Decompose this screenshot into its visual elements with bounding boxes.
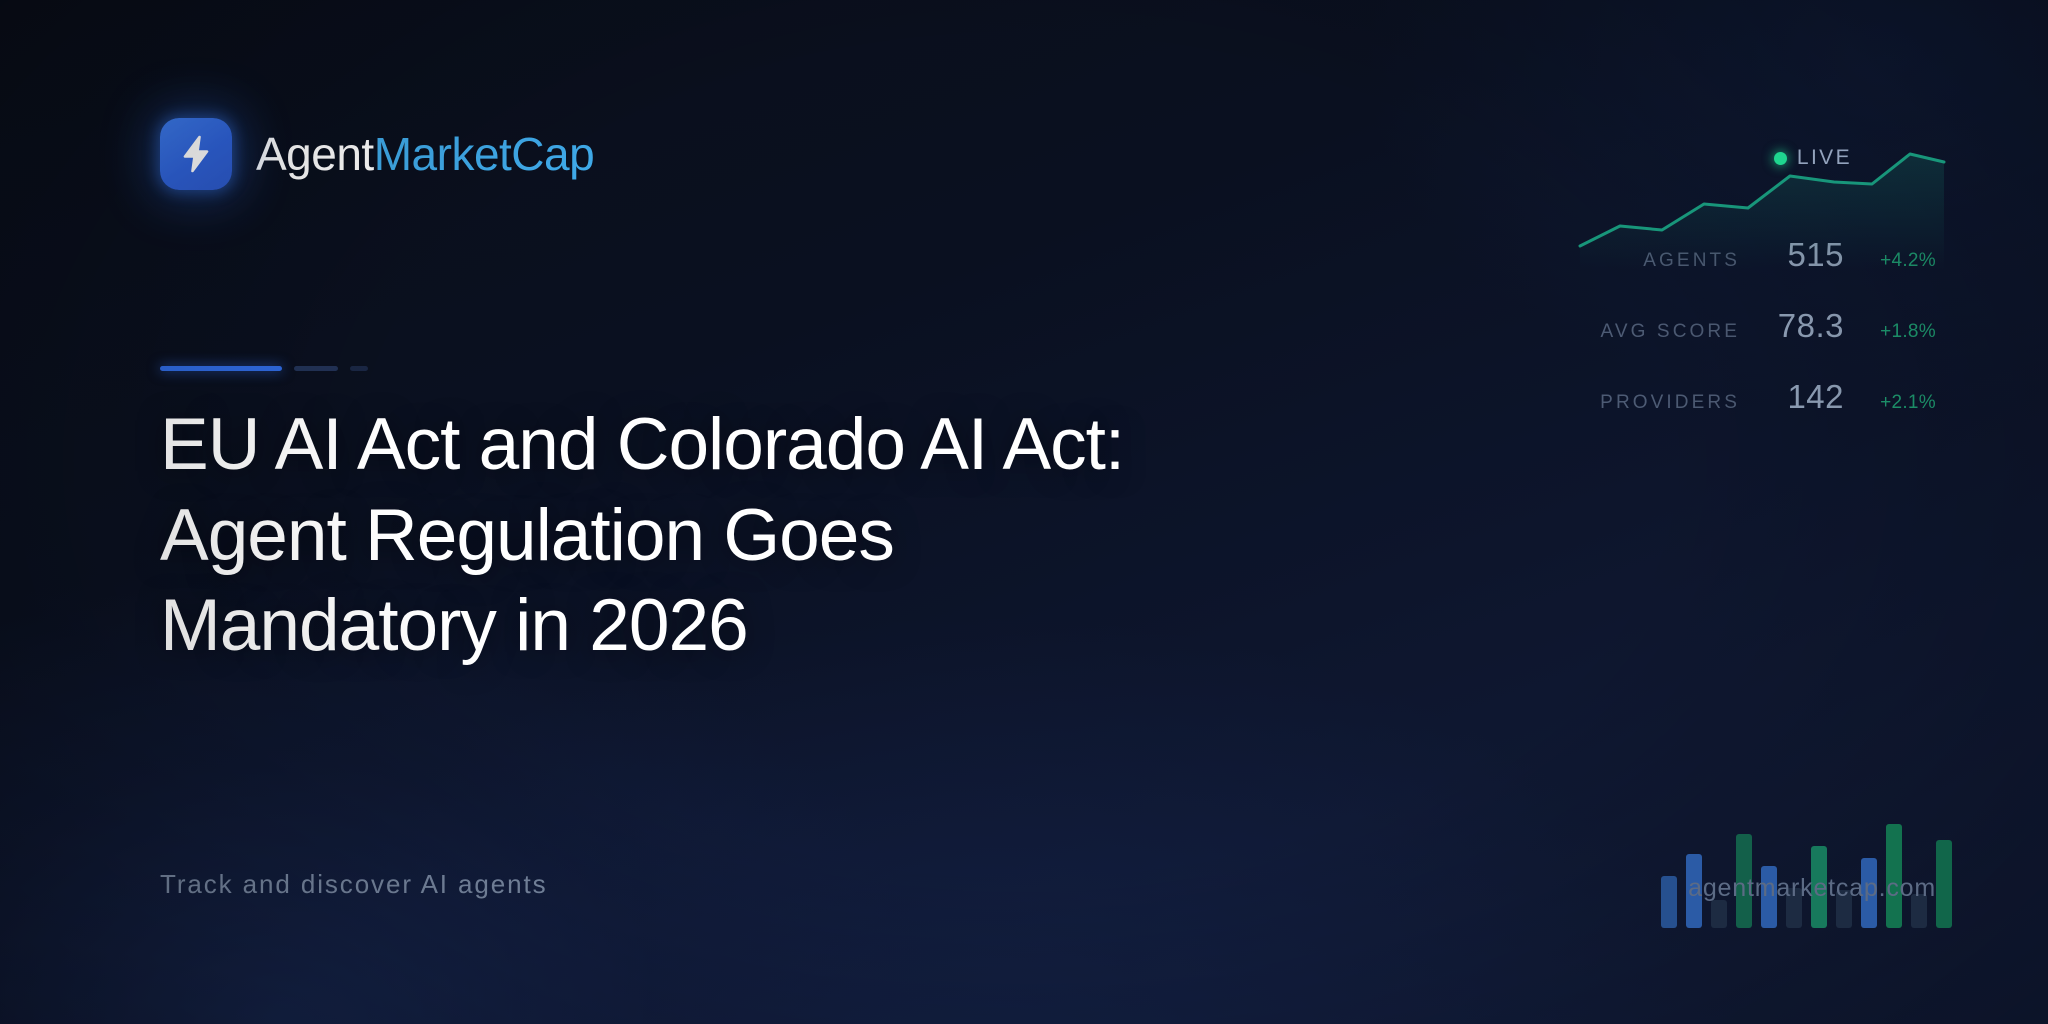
bar-item [1711,900,1727,928]
brand-logo[interactable]: AgentMarketCap [160,118,594,190]
accent-progress-dashes [160,366,368,371]
accent-dash-muted [294,366,338,371]
brand-name-primary: Agent [256,128,374,180]
brand-name-secondary: MarketCap [374,128,594,180]
headline-line-3: Mandatory in 2026 [160,581,1450,672]
stat-delta: +2.1% [1844,392,1936,414]
page-title: EU AI Act and Colorado AI Act: Agent Reg… [160,400,1450,672]
stat-label: PROVIDERS [1596,392,1740,414]
stat-row-avg-score: AVG SCORE 78.3 +1.8% [1596,307,1936,378]
accent-dash-active [160,366,282,371]
live-status-badge: LIVE [1774,146,1852,170]
tagline: Track and discover AI agents [160,869,548,900]
live-dot-icon [1774,152,1787,165]
stat-value: 142 [1740,378,1844,416]
headline-line-1: EU AI Act and Colorado AI Act: [160,400,1450,491]
stat-delta: +1.8% [1844,321,1936,343]
footer-bar-decoration [1661,818,1952,928]
social-card-canvas: AgentMarketCap LIVE AGENTS 515 +4.2% [0,0,2048,1024]
accent-dash-faint [350,366,368,371]
headline-line-2: Agent Regulation Goes [160,491,1450,582]
bar-item [1936,840,1952,928]
bar-item [1661,876,1677,928]
stat-value: 78.3 [1740,307,1844,345]
live-sparkline-chart [1572,140,1952,270]
lightning-bolt-icon [179,134,213,174]
stat-row-providers: PROVIDERS 142 +2.1% [1596,378,1936,449]
logo-badge [160,118,232,190]
brand-wordmark: AgentMarketCap [256,131,594,177]
live-label: LIVE [1797,146,1852,170]
stat-label: AVG SCORE [1596,321,1740,343]
site-url[interactable]: agentmarketcap.com [1688,874,1936,903]
